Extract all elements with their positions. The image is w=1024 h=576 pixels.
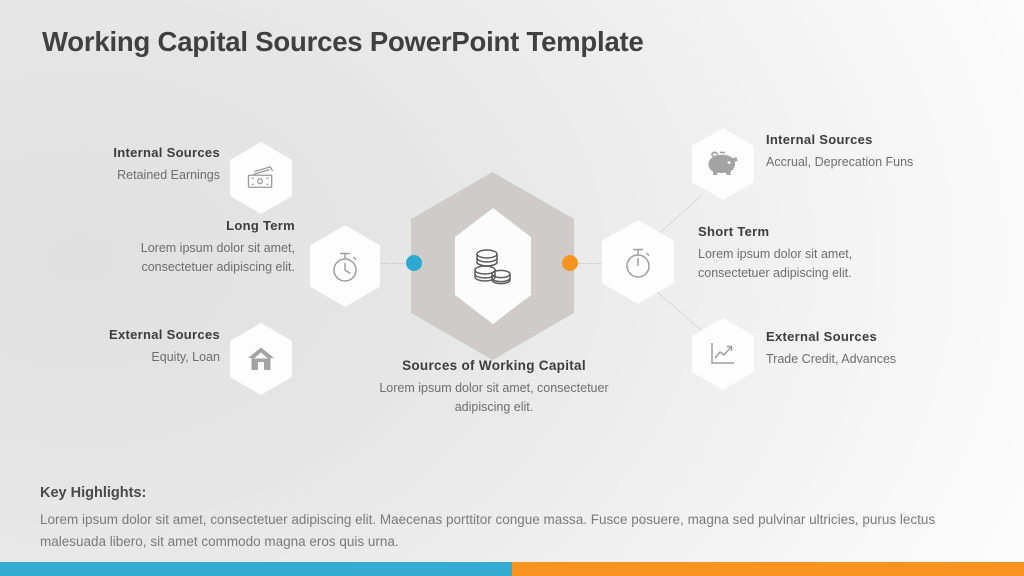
center-caption: Sources of Working Capital Lorem ipsum d… [358,358,630,417]
bottom-accent-bar [0,562,1024,576]
house-icon [230,323,292,395]
hexagon-external-sources-left[interactable] [230,323,292,395]
label-body-short-term: Lorem ipsum dolor sit amet, consectetuer… [698,245,938,283]
text-block-external-sources-right: External Sources Trade Credit, Advances [766,329,996,369]
label-body-internal-left: Retained Earnings [30,166,220,185]
label-title-short-term: Short Term [698,224,938,239]
center-caption-body: Lorem ipsum dolor sit amet, consectetuer… [358,379,630,417]
stopwatch-icon [602,220,674,304]
line-chart-icon [692,318,754,390]
connector-dot-blue[interactable] [406,255,422,271]
label-title-external-right: External Sources [766,329,996,344]
center-caption-title: Sources of Working Capital [358,358,630,373]
text-block-internal-sources-right: Internal Sources Accrual, Deprecation Fu… [766,132,996,172]
text-block-short-term: Short Term Lorem ipsum dolor sit amet, c… [698,224,938,283]
text-block-long-term: Long Term Lorem ipsum dolor sit amet, co… [70,218,295,277]
hexagon-internal-sources-left[interactable] [230,142,292,214]
piggy-bank-icon [692,128,754,200]
label-title-long-term: Long Term [70,218,295,233]
key-highlights-body: Lorem ipsum dolor sit amet, consectetuer… [40,509,1000,553]
label-body-external-right: Trade Credit, Advances [766,350,996,369]
connector-orange-to-short-term [578,263,604,264]
label-body-external-left: Equity, Loan [30,348,220,367]
hexagon-internal-sources-right[interactable] [692,128,754,200]
label-title-external-left: External Sources [30,327,220,342]
label-body-long-term: Lorem ipsum dolor sit amet, consectetuer… [70,239,295,277]
center-hexagon-inner[interactable] [455,208,531,324]
bottom-bar-blue-segment [0,562,512,576]
hexagon-long-term[interactable] [310,225,380,307]
connector-blue-to-long-term [381,263,405,264]
page-title: Working Capital Sources PowerPoint Templ… [42,26,644,58]
connector-dot-orange[interactable] [562,255,578,271]
text-block-internal-sources-left: Internal Sources Retained Earnings [30,145,220,185]
coins-stack-icon [455,208,531,324]
banknotes-icon [230,142,292,214]
hexagon-short-term[interactable] [602,220,674,304]
bottom-bar-orange-segment [512,562,1024,576]
slide-canvas: Working Capital Sources PowerPoint Templ… [0,0,1024,576]
stopwatch-icon [310,225,380,307]
label-title-internal-left: Internal Sources [30,145,220,160]
text-block-external-sources-left: External Sources Equity, Loan [30,327,220,367]
hexagon-external-sources-right[interactable] [692,318,754,390]
key-highlights-title: Key Highlights: [40,485,1000,501]
key-highlights-section: Key Highlights: Lorem ipsum dolor sit am… [40,485,1000,553]
label-body-internal-right: Accrual, Deprecation Funs [766,153,996,172]
label-title-internal-right: Internal Sources [766,132,996,147]
